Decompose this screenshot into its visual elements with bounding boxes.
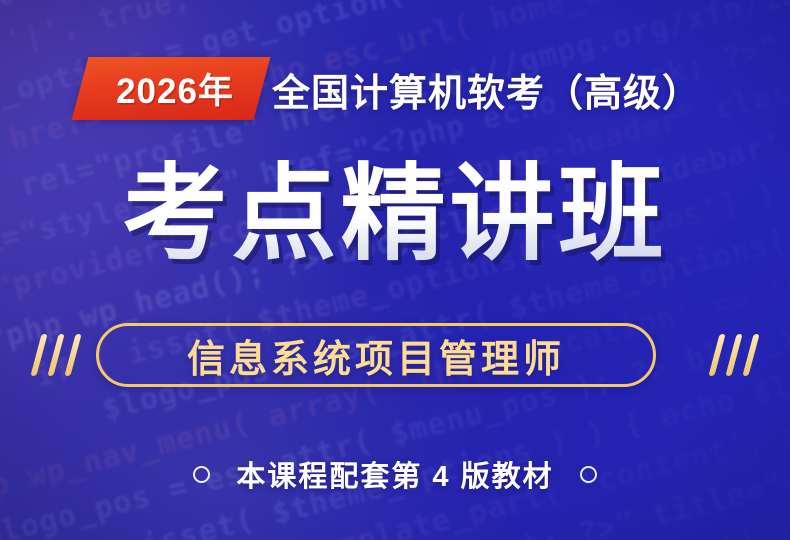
year-badge-label: 2026年 [95, 57, 255, 120]
circle-outline-icon [193, 466, 210, 483]
certification-row: 信息系统项目管理师 [0, 318, 790, 394]
exam-title: 全国计算机软考（高级） [272, 59, 701, 119]
slash-bar [30, 334, 47, 376]
banner-header-row: 2026年 全国计算机软考（高级） [0, 55, 790, 123]
slash-bar [64, 334, 81, 376]
course-banner: <?php $charset = "UTF-8"; bloginfo( 'cha… [0, 0, 790, 540]
textbook-note-row: 本课程配套第 4 版教材 [0, 450, 790, 498]
banner-content: 2026年 全国计算机软考（高级） 考点精讲班 信息系统项目管理师 本课程配套第… [0, 0, 790, 540]
course-headline: 考点精讲班 [0, 160, 790, 270]
slash-bar [708, 334, 725, 376]
slash-marks-icon [714, 334, 754, 376]
slash-bar [742, 334, 759, 376]
slash-bar [47, 334, 64, 376]
circle-outline-icon [580, 466, 597, 483]
slash-marks-icon [36, 334, 76, 376]
certification-pill: 信息系统项目管理师 [96, 323, 656, 387]
certification-label: 信息系统项目管理师 [187, 328, 565, 383]
slash-bar [725, 334, 742, 376]
textbook-note: 本课程配套第 4 版教材 [236, 453, 553, 495]
